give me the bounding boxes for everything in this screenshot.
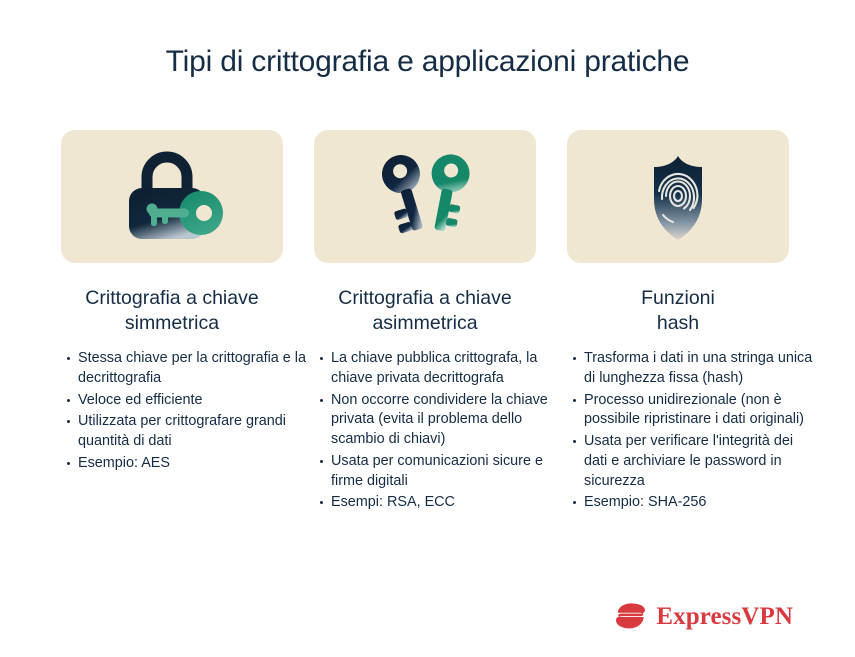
- icon-card-asymmetric: [314, 130, 536, 263]
- column-heading-line-2: asimmetrica: [372, 312, 477, 334]
- icon-card-symmetric: [61, 130, 283, 263]
- list-item: Usata per verificare l'integrità dei dat…: [570, 432, 818, 491]
- column-heading-line-2: hash: [657, 312, 699, 334]
- expressvpn-e-mark-icon: [615, 601, 647, 631]
- two-keys-icon: [366, 147, 484, 247]
- bullet-list-asymmetric: La chiave pubblica crittografa, la chiav…: [317, 349, 559, 515]
- infographic-root: Tipi di crittografia e applicazioni prat…: [0, 0, 855, 657]
- list-item: Stessa chiave per la crittografia e la d…: [64, 349, 316, 388]
- columns-container: Crittografia a chiave simmetrica Stessa …: [61, 130, 791, 515]
- column-heading-symmetric: Crittografia a chiave simmetrica: [61, 286, 283, 335]
- column-heading-line-1: Funzioni: [641, 287, 715, 309]
- list-item: Non occorre condividere la chiave privat…: [317, 391, 559, 450]
- shield-fingerprint-icon: [619, 147, 737, 247]
- bullet-list-symmetric: Stessa chiave per la crittografia e la d…: [64, 349, 316, 475]
- list-item: Esempio: AES: [64, 454, 316, 474]
- list-item: Trasforma i dati in una stringa unica di…: [570, 349, 818, 388]
- icon-card-hash: [567, 130, 789, 263]
- list-item: Usata per comunicazioni sicure e firme d…: [317, 452, 559, 491]
- column-symmetric-cryptography: Crittografia a chiave simmetrica Stessa …: [61, 130, 283, 515]
- list-item: Esempi: RSA, ECC: [317, 493, 559, 513]
- padlock-with-key-icon: [113, 147, 231, 247]
- expressvpn-wordmark: ExpressVPN: [656, 604, 793, 629]
- column-heading-line-2: simmetrica: [125, 312, 219, 334]
- page-title: Tipi di crittografia e applicazioni prat…: [0, 44, 855, 80]
- list-item: Veloce ed efficiente: [64, 391, 316, 411]
- list-item: La chiave pubblica crittografa, la chiav…: [317, 349, 559, 388]
- column-heading-asymmetric: Crittografia a chiave asimmetrica: [314, 286, 536, 335]
- list-item: Esempio: SHA-256: [570, 493, 818, 513]
- column-asymmetric-cryptography: Crittografia a chiave asimmetrica La chi…: [314, 130, 536, 515]
- column-hash-functions: Funzioni hash Trasforma i dati in una st…: [567, 130, 789, 515]
- column-heading-hash: Funzioni hash: [567, 286, 789, 335]
- bullet-list-hash: Trasforma i dati in una stringa unica di…: [570, 349, 818, 515]
- column-heading-line-1: Crittografia a chiave: [338, 287, 511, 309]
- list-item: Utilizzata per crittografare grandi quan…: [64, 412, 316, 451]
- column-heading-line-1: Crittografia a chiave: [85, 287, 258, 309]
- list-item: Processo unidirezionale (non è possibile…: [570, 391, 818, 430]
- expressvpn-logo: ExpressVPN: [615, 601, 793, 631]
